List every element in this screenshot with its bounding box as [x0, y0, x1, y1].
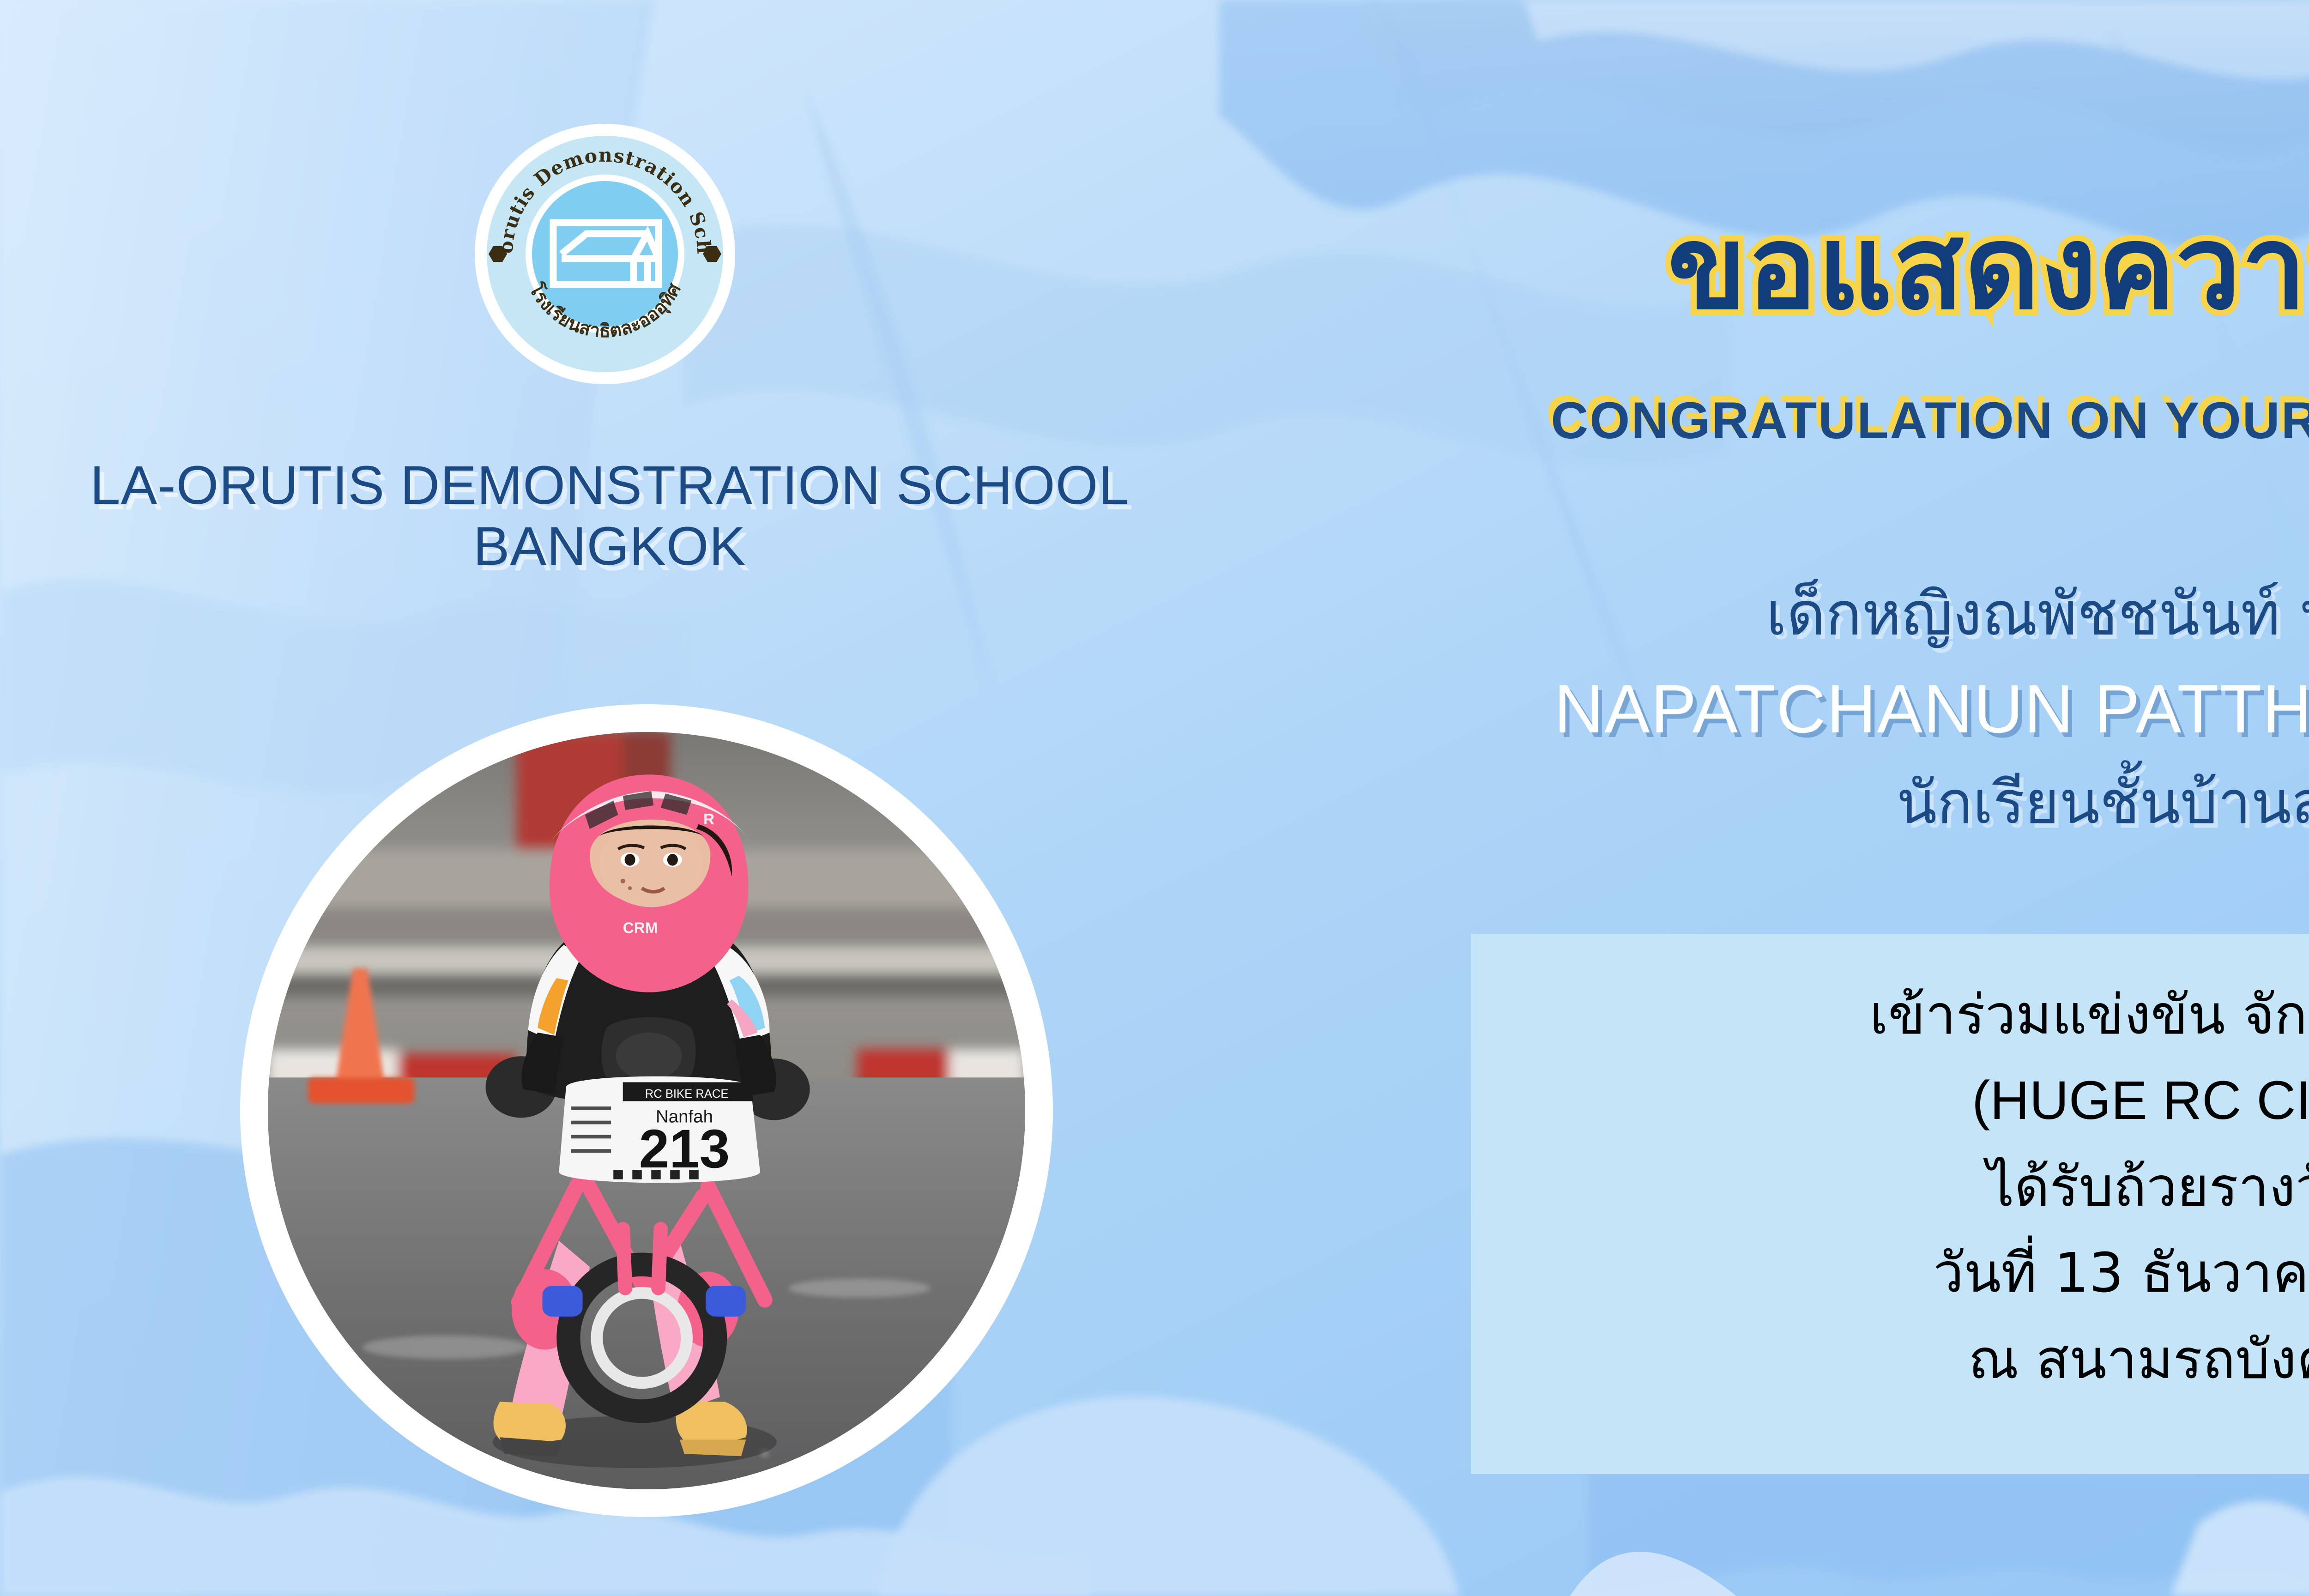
school-name-block: LA-ORUTIS DEMONSTRATION SCHOOL BANGKOK — [0, 455, 1219, 577]
left-panel: La-orutis Demonstration School โรงเรียนส… — [0, 0, 1339, 1596]
student-photo-illustration: RC BIKE RACE Nanfah 213 — [268, 732, 1025, 1489]
headline-english: CONGRATULATION ON YOUR ACHIEVEMENT — [1330, 395, 2309, 447]
school-name-line2: BANGKOK — [0, 516, 1219, 577]
awardee-class-thai: นักเรียนชั้นบ้านสาธิต — [1330, 769, 2309, 837]
right-panel: ขอแสดงความยินดี CONGRATULATION ON YOUR A… — [1330, 0, 2309, 1596]
svg-text:CRM: CRM — [623, 920, 658, 937]
detail-line-date: วันที่ 13 ธันวาคม 2568 — [1471, 1230, 2309, 1316]
student-photo-frame: RC BIKE RACE Nanfah 213 — [240, 704, 1053, 1517]
svg-text:R: R — [703, 811, 714, 828]
school-seal-logo: La-orutis Demonstration School โรงเรียนส… — [471, 120, 739, 388]
awardee-name-english: NAPATCHANUN PATTHAMAKUNCHAI — [1330, 672, 2309, 747]
awardee-name-thai: เด็กหญิงณพัชชนันท์ ปัทมกุลชัย — [1330, 580, 2309, 649]
bib-header-text: RC BIKE RACE — [645, 1088, 729, 1100]
headline-thai: ขอแสดงความยินดี — [1330, 210, 2309, 326]
achievement-detail-box: เข้าร่วมแข่งขัน จักรยานขาไถ (HUGE RC CIR… — [1471, 934, 2309, 1474]
school-name-line1: LA-ORUTIS DEMONSTRATION SCHOOL — [0, 455, 1219, 516]
school-seal-svg: La-orutis Demonstration School โรงเรียนส… — [471, 120, 739, 388]
detail-line-award: ได้รับถ้วยรางวัลที่ 6 — [1471, 1144, 2309, 1230]
detail-line-event: เข้าร่วมแข่งขัน จักรยานขาไถ — [1471, 972, 2309, 1058]
detail-line-venue-code: (HUGE RC CIRCUI) — [1471, 1058, 2309, 1143]
detail-line-location: ณ สนามรถบังคับวิทยุ — [1471, 1316, 2309, 1402]
student-photo: RC BIKE RACE Nanfah 213 — [268, 732, 1025, 1489]
